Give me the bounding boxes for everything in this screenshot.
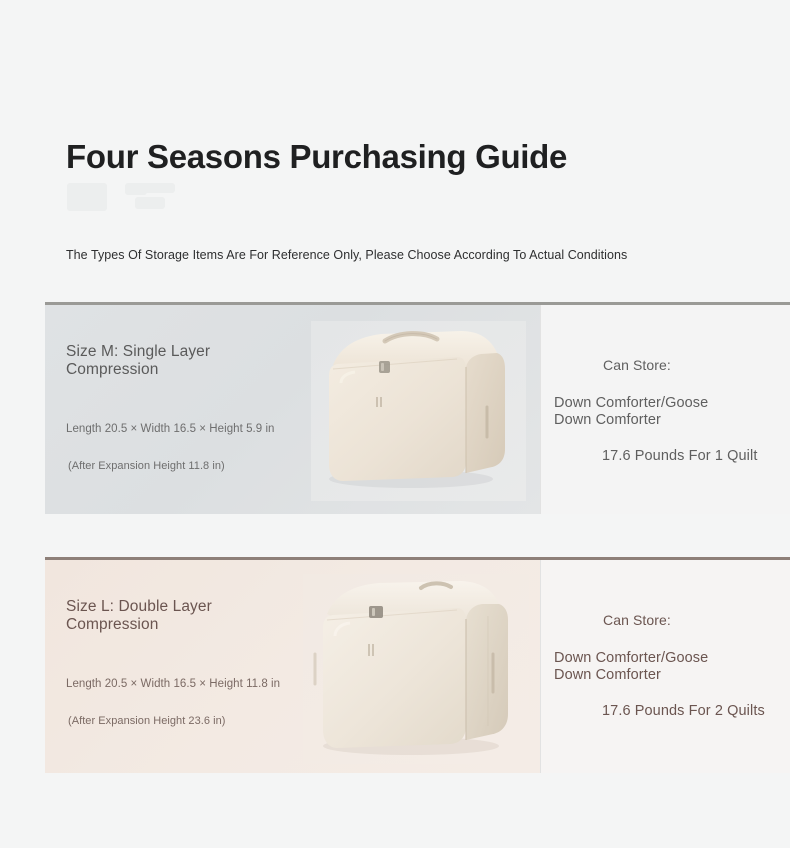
background-artifact — [135, 197, 165, 209]
page-title: Four Seasons Purchasing Guide — [66, 138, 567, 176]
can-store-label: Can Store: — [603, 357, 671, 373]
dimensions-text: Length 20.5 × Width 16.5 × Height 11.8 i… — [66, 678, 280, 690]
store-weight-text: 17.6 Pounds For 1 Quilt — [602, 448, 757, 464]
background-artifact — [67, 183, 107, 211]
dimensions-text: Length 20.5 × Width 16.5 × Height 5.9 in — [66, 423, 275, 435]
product-guide-page: Four Seasons Purchasing Guide The Types … — [0, 0, 790, 848]
expansion-note: (After Expansion Height 11.8 in) — [68, 460, 225, 472]
product-card-size-l: Size L: Double Layer Compression Length … — [45, 557, 790, 773]
can-store-label: Can Store: — [603, 612, 671, 628]
size-title: Size M: Single Layer Compression — [66, 343, 291, 379]
card-left-panel: Size L: Double Layer Compression Length … — [45, 560, 540, 773]
size-title: Size L: Double Layer Compression — [66, 598, 291, 634]
store-weight-text: 17.6 Pounds For 2 Quilts — [602, 703, 765, 719]
background-artifact — [137, 183, 175, 193]
store-items-text: Down Comforter/Goose Down Comforter — [554, 395, 746, 429]
card-right-panel: Can Store: Down Comforter/Goose Down Com… — [540, 560, 790, 773]
expansion-note: (After Expansion Height 23.6 in) — [68, 715, 226, 727]
card-right-panel: Can Store: Down Comforter/Goose Down Com… — [540, 305, 790, 514]
page-subtitle: The Types Of Storage Items Are For Refer… — [66, 248, 627, 262]
card-left-panel: Size M: Single Layer Compression Length … — [45, 305, 540, 514]
product-photo-size-l — [303, 574, 529, 764]
store-items-text: Down Comforter/Goose Down Comforter — [554, 650, 746, 684]
product-card-size-m: Size M: Single Layer Compression Length … — [45, 302, 790, 514]
product-photo-size-m — [311, 321, 526, 501]
